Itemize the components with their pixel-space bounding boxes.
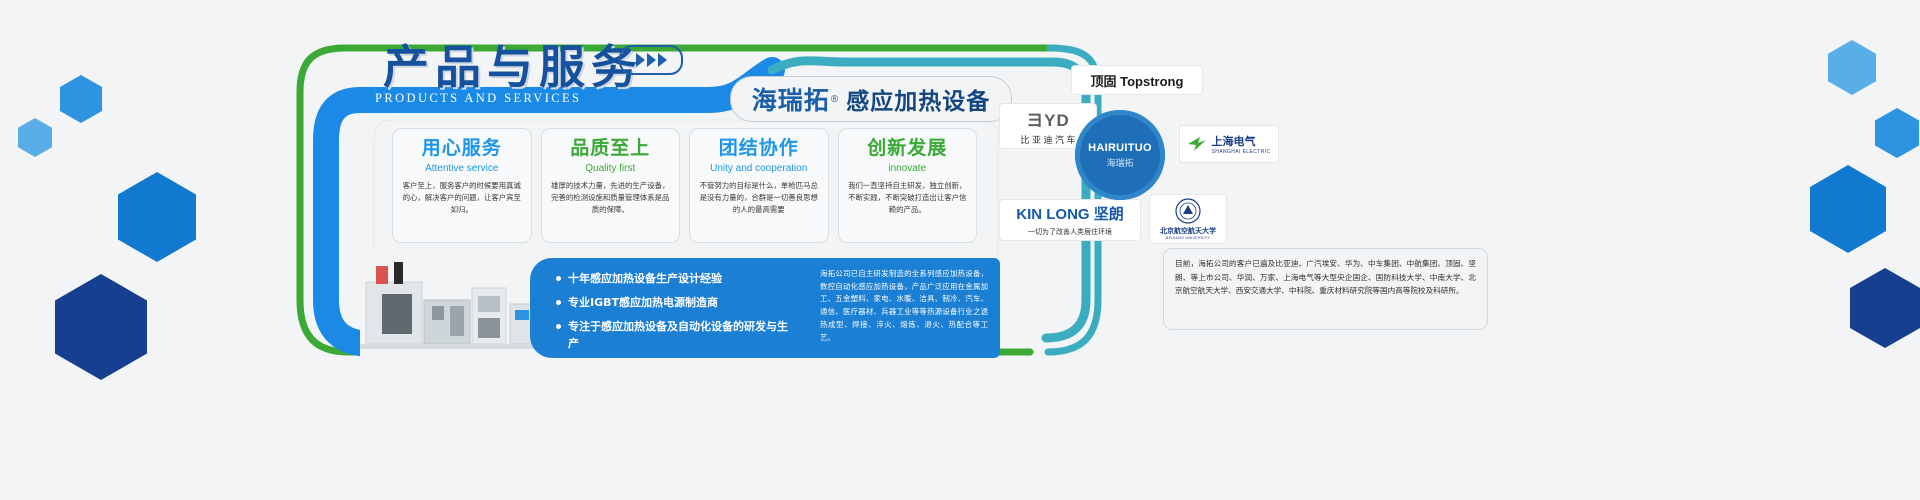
- logo-subtext: 一切为了改善人类居住环境: [1028, 227, 1112, 237]
- list-item: 专业IGBT感应加热电源制造商: [556, 294, 796, 311]
- feature-card-body: 我们一直坚持自主研发，独立创新，不断实践，不断突破打造出让客户信赖的产品。: [847, 180, 969, 216]
- list-item: 十年感应加热设备生产设计经验: [556, 270, 796, 287]
- feature-card-title: 品质至上: [570, 138, 650, 159]
- logo-subtext: BEIHANG UNIVERSITY: [1166, 236, 1210, 240]
- logo-text: 北京航空航天大学: [1160, 226, 1216, 236]
- feature-card-title: 团结协作: [719, 138, 799, 159]
- clients-info-text: 目前，海拓公司的客户已遍及比亚迪、广汽埃安、华为、中车集团、中航集团、顶固、坚朗…: [1175, 257, 1476, 298]
- feature-card-title: 用心服务: [422, 138, 502, 159]
- beihang-seal-icon: [1175, 198, 1201, 224]
- feature-card: 团结协作 Unity and cooperation 不管努力的目标是什么，单枪…: [689, 128, 829, 243]
- emblem-text: HAIRUITUO: [1088, 142, 1152, 154]
- feature-card-body: 雄厚的技术力量，先进的生产设备，完善的检测设施和质量管理体系是品质的保障。: [550, 180, 672, 216]
- beihang-university-logo: 北京航空航天大学 BEIHANG UNIVERSITY: [1150, 195, 1226, 243]
- logo-text: 上海电气: [1211, 133, 1255, 149]
- decorative-frame: [0, 0, 1920, 500]
- logo-subtext: 比 亚 迪 汽 车: [1020, 133, 1075, 146]
- feature-card-subtitle: innovate: [888, 163, 926, 174]
- feature-card-title: 创新发展: [867, 138, 947, 159]
- feature-card-subtitle: Unity and cooperation: [710, 163, 807, 174]
- feature-card-subtitle: Quality first: [585, 163, 635, 174]
- hairuituo-emblem: HAIRUITUO 海瑞拓: [1075, 110, 1165, 200]
- page-subtitle: PRODUCTS AND SERVICES: [375, 91, 581, 106]
- brand-subtitle: 感应加热设备: [846, 82, 990, 116]
- feature-card-body: 客户至上，服务客户的时候要用真诚的心，解决客户的问题，让客户宾至如归。: [401, 180, 523, 216]
- brand-badge: 海瑞拓® 感应加热设备: [730, 76, 1012, 122]
- feature-card-subtitle: Attentive service: [425, 163, 498, 174]
- logo-text: ヨYD: [1026, 106, 1070, 131]
- poster-canvas: 产品与服务 PRODUCTS AND SERVICES 海瑞拓® 感应加热设备 …: [0, 0, 1920, 500]
- logo-text: 顶固 Topstrong: [1091, 71, 1184, 90]
- emblem-subtext: 海瑞拓: [1106, 156, 1133, 169]
- logo-subtext: SHANGHAI ELECTRIC: [1211, 149, 1270, 155]
- feature-card-body: 不管努力的目标是什么，单枪匹马总是没有力量的，合群是一切善良思想的人的最高需要: [698, 180, 820, 216]
- registered-mark-icon: ®: [831, 94, 838, 105]
- topstrong-logo: 顶固 Topstrong: [1072, 66, 1202, 94]
- list-item: 专注于感应加热设备及自动化设备的研发与生产: [556, 318, 796, 352]
- kinlong-logo: KIN LONG 坚朗 一切为了改善人类居住环境: [1000, 200, 1140, 240]
- logo-text: KIN LONG 坚朗: [1016, 203, 1124, 224]
- clients-info-box: 目前，海拓公司的客户已遍及比亚迪、广汽埃安、华为、中车集团、中航集团、顶固、坚朗…: [1163, 248, 1488, 330]
- feature-card-list: 用心服务 Attentive service 客户至上，服务客户的时候要用真诚的…: [392, 128, 977, 243]
- shanghai-electric-logo: 上海电气 SHANGHAI ELECTRIC: [1180, 126, 1278, 162]
- brand-name: 海瑞拓: [752, 81, 830, 117]
- highlight-bullet-list: 十年感应加热设备生产设计经验 专业IGBT感应加热电源制造商 专注于感应加热设备…: [556, 270, 796, 359]
- triple-chevron-right-icon: [619, 45, 683, 75]
- banner-paragraph: 海拓公司已自主研发制造的全系列感应加热设备，数控自动化感应加热设备，产品广泛应用…: [820, 268, 988, 344]
- shanghai-electric-mark-icon: [1187, 135, 1207, 153]
- feature-card: 品质至上 Quality first 雄厚的技术力量，先进的生产设备，完善的检测…: [541, 128, 681, 243]
- feature-card: 用心服务 Attentive service 客户至上，服务客户的时候要用真诚的…: [392, 128, 532, 243]
- feature-card: 创新发展 innovate 我们一直坚持自主研发，独立创新，不断实践，不断突破打…: [838, 128, 978, 243]
- page-title: 产品与服务: [383, 31, 643, 97]
